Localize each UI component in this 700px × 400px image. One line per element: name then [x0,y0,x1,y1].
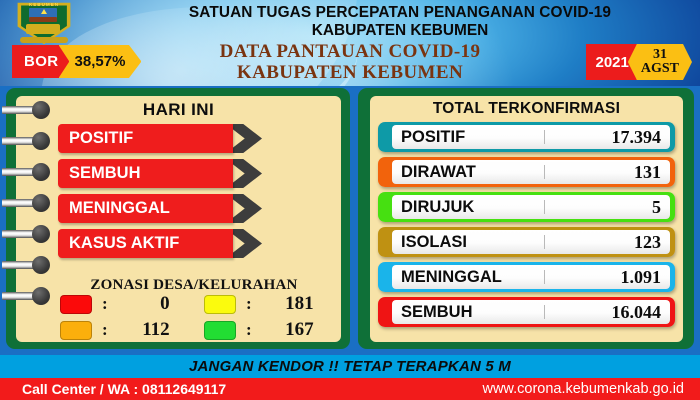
binding-ring [2,193,60,213]
zonasi-cell-hijau: :167 [204,319,314,341]
bor-badge: BOR 38,57% [12,45,141,78]
total-row-label: SEMBUH [392,303,473,322]
call-center-text: Call Center / WA : 08112649117 [22,378,226,400]
total-row-inner: MENINGGAL1.091 [392,265,670,289]
total-row-value: 1.091 [621,267,662,288]
slogan-bar: JANGAN KENDOR !! TETAP TERAPKAN 5 M [0,355,700,378]
zonasi-cell-oranye: :112 [60,319,170,341]
bor-value: 38,57% [59,45,142,78]
slogan-text: JANGAN KENDOR !! TETAP TERAPKAN 5 M [0,355,700,378]
today-panel-title: HARI INI [16,100,341,120]
total-row-value: 17.394 [612,127,662,148]
total-row-label: MENINGGAL [392,268,502,287]
total-row: DIRAWAT131 [378,157,675,187]
total-row: ISOLASI123 [378,227,675,257]
binding-ring [2,131,60,151]
today-row: 6MENINGGAL [58,194,328,223]
total-row-label: ISOLASI [392,233,467,252]
total-row-divider [544,235,545,249]
today-row-label: SEMBUH [58,159,233,188]
total-row-inner: DIRUJUK5 [392,195,670,219]
total-row: DIRUJUK5 [378,192,675,222]
total-row: MENINGGAL1.091 [378,262,675,292]
date-day: 31 [653,48,667,62]
zonasi-value-merah: 0 [114,293,170,315]
today-row-label: MENINGGAL [58,194,233,223]
total-row-inner: DIRAWAT131 [392,160,670,184]
today-row-label: POSITIF [58,124,233,153]
today-row: 48SEMBUH [58,159,328,188]
zonasi-value-hijau: 167 [258,319,314,341]
total-row-divider [544,130,545,144]
header-subtitle: DATA PANTAUAN COVID-19 KABUPATEN KEBUMEN [150,41,550,84]
header-subtitle-line1: DATA PANTAUAN COVID-19 [150,41,550,62]
bor-label: BOR [12,45,69,78]
zonasi-cell-kuning: :181 [204,293,314,315]
binding-ring [2,224,60,244]
zonasi-color-swatch-kuning [204,295,236,314]
zonasi-value-kuning: 181 [258,293,314,315]
zonasi-color-swatch-oranye [60,321,92,340]
zonasi-value-oranye: 112 [114,319,170,341]
total-row-divider [544,305,545,319]
zonasi-cell-merah: :0 [60,293,170,315]
total-row-value: 5 [652,197,661,218]
zonasi-separator: : [102,320,108,340]
contact-bar: Call Center / WA : 08112649117 www.coron… [0,378,700,400]
total-row-divider [544,270,545,284]
zonasi-separator: : [246,294,252,314]
total-row: POSITIF17.394 [378,122,675,152]
zonasi-color-swatch-merah [60,295,92,314]
total-row-label: DIRAWAT [392,163,476,182]
covid-dashboard-poster: KEBUMEN SATUAN TUGAS PERCEPATAN PENANGAN… [0,0,700,400]
total-row-label: DIRUJUK [392,198,474,217]
date-day-month: 31 AGST [628,44,692,80]
total-row-inner: ISOLASI123 [392,230,670,254]
today-row: 31POSITIF [58,124,328,153]
total-row-divider [544,200,545,214]
today-row: 259KASUS AKTIF [58,229,328,258]
total-row: SEMBUH16.044 [378,297,675,327]
binding-ring [2,286,60,306]
binding-ring [2,162,60,182]
total-row-value: 123 [634,232,661,253]
total-row-inner: SEMBUH16.044 [392,300,670,324]
total-panel-title: TOTAL TERKONFIRMASI [370,100,683,118]
kebumen-regency-crest-icon: KEBUMEN [14,1,74,45]
total-row-value: 16.044 [612,302,662,323]
zonasi-color-swatch-hijau [204,321,236,340]
total-row-inner: POSITIF17.394 [392,125,670,149]
zonasi-grid: :0:181:112:167 [60,293,328,343]
zonasi-title: ZONASI DESA/KELURAHAN [58,277,330,294]
today-row-label: KASUS AKTIF [58,229,233,258]
zonasi-separator: : [246,320,252,340]
zonasi-separator: : [102,294,108,314]
binding-ring [2,100,60,120]
header-title-line1: SATUAN TUGAS PERCEPATAN PENANGANAN COVID… [140,4,660,22]
total-row-label: POSITIF [392,128,465,147]
header-subtitle-line2: KABUPATEN KEBUMEN [150,62,550,83]
binding-ring [2,255,60,275]
crest-label: KEBUMEN [14,2,74,7]
total-row-value: 131 [634,162,661,183]
header-title-line2: KABUPATEN KEBUMEN [140,22,660,40]
website-link[interactable]: www.corona.kebumenkab.go.id [482,378,684,400]
total-row-divider [544,165,545,179]
date-badge: 2021 31 AGST [586,44,693,80]
date-month: AGST [641,62,679,76]
